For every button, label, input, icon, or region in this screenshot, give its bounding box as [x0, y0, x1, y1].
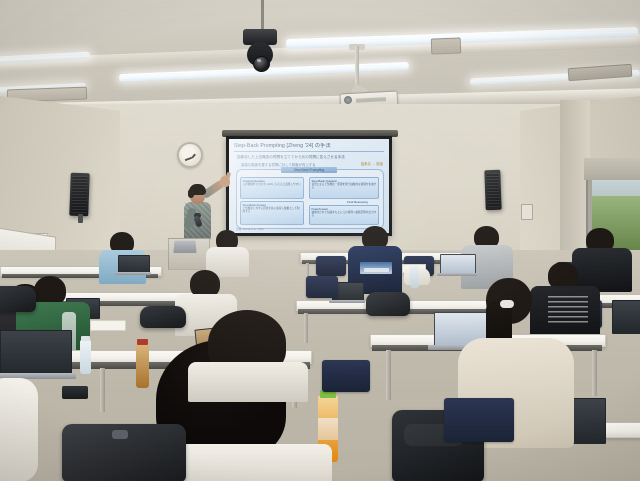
- wall-clock-icon: [177, 142, 203, 168]
- chair[interactable]: [444, 398, 514, 442]
- clock-minute-hand: [185, 157, 192, 161]
- backpack[interactable]: [366, 292, 410, 316]
- laptop-base[interactable]: [437, 273, 477, 276]
- desk-leg: [592, 350, 597, 396]
- desk-leg: [386, 350, 391, 400]
- ceiling-vent: [431, 37, 462, 54]
- laptop-base[interactable]: [115, 272, 151, 275]
- desk-leg: [100, 368, 105, 412]
- bottle-cap: [137, 339, 148, 345]
- chair[interactable]: [306, 276, 338, 298]
- clock-face: [182, 147, 196, 161]
- wall-speaker-left-icon: [69, 173, 89, 217]
- window-blind[interactable]: [584, 158, 640, 180]
- backpack[interactable]: [0, 286, 36, 312]
- slide-glare: [229, 139, 389, 233]
- presenter-hair-side: [188, 189, 194, 198]
- desk-leg: [304, 313, 308, 343]
- bottle-cap: [81, 336, 90, 341]
- tshirt-print: [548, 296, 588, 324]
- chair[interactable]: [316, 256, 346, 276]
- water-bottle[interactable]: [80, 340, 91, 374]
- backpack-logo: [112, 430, 128, 439]
- camera-lens-icon: [253, 56, 270, 72]
- laptop-screen[interactable]: [0, 330, 72, 376]
- speaker-grille: [71, 176, 87, 214]
- student-white-body: [188, 362, 308, 402]
- bag[interactable]: [140, 306, 186, 328]
- camera-mount-pole: [261, 0, 264, 30]
- speaker-grille: [486, 173, 499, 207]
- water-bottle[interactable]: [410, 266, 419, 288]
- bottle-label: [318, 418, 338, 440]
- paper-sheet: [90, 320, 126, 331]
- tshirt-brand-text: [364, 268, 389, 272]
- laptop-base[interactable]: [329, 300, 365, 303]
- lecture-hall-photo: Step-Back Prompting [Zheng '24] の手法 抽象化し…: [0, 0, 640, 481]
- speaker-bracket: [78, 214, 83, 223]
- laptop-screen[interactable]: [612, 300, 640, 334]
- projected-slide: Step-Back Prompting [Zheng '24] の手法 抽象化し…: [229, 139, 389, 233]
- light-switch-panel[interactable]: [521, 204, 533, 220]
- wall-speaker-right-icon: [484, 170, 501, 211]
- chair[interactable]: [322, 360, 370, 392]
- lectern-laptop[interactable]: [173, 241, 196, 253]
- student-foreground-left-body: [0, 378, 38, 481]
- tea-bottle[interactable]: [136, 344, 149, 388]
- hair-tie: [500, 300, 514, 308]
- smartphone-icon[interactable]: [62, 386, 88, 399]
